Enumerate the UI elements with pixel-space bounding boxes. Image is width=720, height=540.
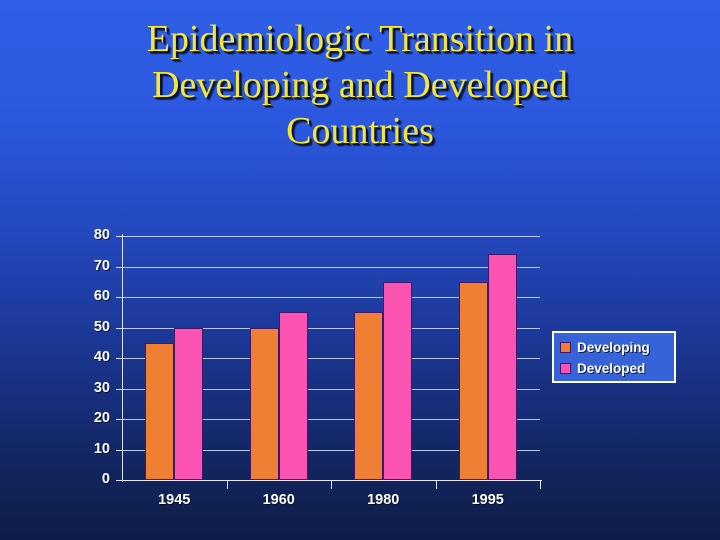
x-axis-label: 1980 (331, 492, 436, 508)
y-axis-label: 60 (70, 288, 110, 304)
x-axis-label: 1995 (436, 492, 541, 508)
plot-area (122, 236, 540, 480)
y-axis-label: 50 (70, 319, 110, 335)
gridline (122, 267, 540, 268)
x-axis-tick (436, 481, 437, 489)
x-axis-label: 1945 (122, 492, 227, 508)
bar-developed-1960 (279, 312, 308, 480)
y-axis-label: 70 (70, 258, 110, 274)
gridline (122, 236, 540, 237)
bar-developed-1980 (383, 282, 412, 480)
y-axis-label: 10 (70, 441, 110, 457)
legend-swatch-icon (560, 363, 571, 374)
x-axis-line (122, 480, 542, 481)
legend-swatch-icon (560, 342, 571, 353)
y-axis-label: 0 (70, 471, 110, 487)
legend-item-developing: Developing (560, 337, 674, 358)
x-axis-tick (331, 481, 332, 489)
y-axis-label: 30 (70, 380, 110, 396)
page-title: Epidemiologic Transition in Developing a… (0, 16, 720, 154)
bar-developing-1960 (250, 328, 279, 481)
x-axis-tick (227, 481, 228, 489)
y-axis-tick (116, 480, 123, 481)
bar-developed-1945 (174, 328, 203, 481)
legend-item-label: Developing (577, 340, 650, 355)
bar-developing-1995 (459, 282, 488, 480)
legend-item-developed: Developed (560, 358, 674, 379)
bar-developing-1945 (145, 343, 174, 480)
x-axis-label: 1960 (227, 492, 332, 508)
x-axis-tick (540, 481, 541, 489)
bar-developing-1980 (354, 312, 383, 480)
chart-legend: DevelopingDeveloped (552, 331, 676, 383)
y-axis-label: 80 (70, 227, 110, 243)
y-axis-label: 20 (70, 410, 110, 426)
bar-developed-1995 (488, 254, 517, 480)
slide: Epidemiologic Transition in Developing a… (0, 0, 720, 540)
legend-item-label: Developed (577, 361, 645, 376)
y-axis-label: 40 (70, 349, 110, 365)
